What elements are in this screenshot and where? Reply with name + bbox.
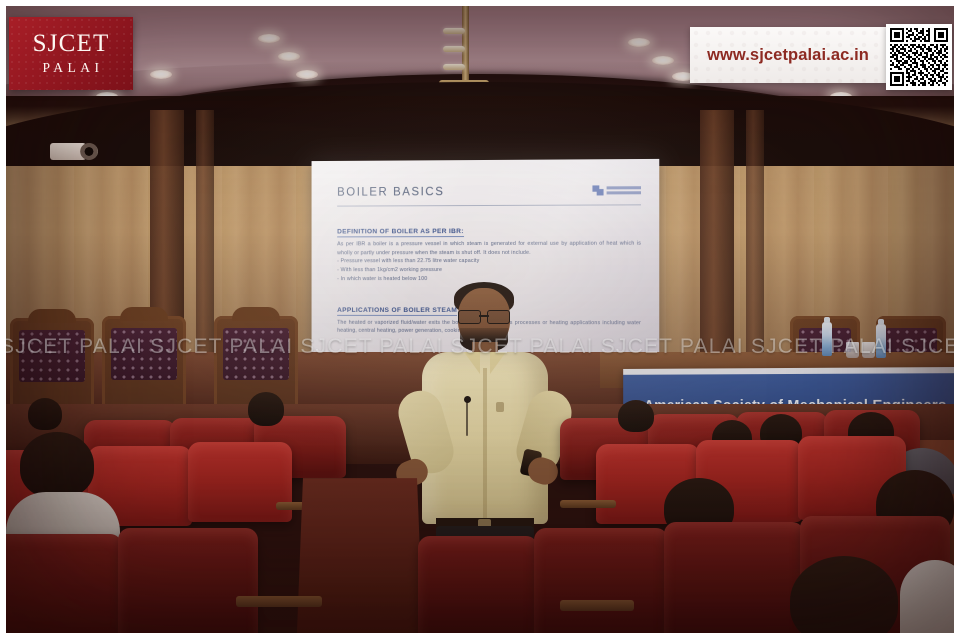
chair-crest <box>28 309 76 323</box>
shirt-placket <box>483 368 487 518</box>
audience-head <box>790 556 898 639</box>
ceiling-spotlight <box>258 34 280 43</box>
audience-shoulders <box>900 560 960 639</box>
shirt-collar-left <box>464 352 480 374</box>
seat-armrest <box>560 500 616 508</box>
ceiling-spotlight <box>652 56 674 65</box>
auditorium-seat <box>534 528 668 639</box>
audience-head <box>618 400 654 432</box>
seat-armrest <box>560 600 634 611</box>
projector-pole <box>462 4 469 82</box>
audience-head <box>20 432 94 498</box>
microphone-wire <box>466 402 468 436</box>
audience-head <box>248 392 284 426</box>
slide-bullet: - Pressure vessel with less than 22.75 l… <box>337 257 641 266</box>
qr-code[interactable] <box>886 24 952 90</box>
shirt-collar-right <box>490 352 506 374</box>
slide-divider <box>337 204 641 206</box>
chair-crest <box>232 307 280 321</box>
presenter-company-logo <box>592 185 641 195</box>
institution-logo-line2: PALAI <box>38 60 103 76</box>
website-url-text: www.sjcetpalai.ac.in <box>707 46 869 65</box>
wall-cctv-camera <box>50 143 86 160</box>
drinking-glass <box>846 342 859 358</box>
lapel-microphone <box>464 396 471 403</box>
drinking-glass <box>862 342 875 358</box>
auditorium-seat <box>664 522 804 639</box>
seat-armrest <box>236 596 322 607</box>
chair-upholstery <box>19 330 85 382</box>
auditorium-seat <box>118 528 258 639</box>
presenter-glasses <box>458 310 510 322</box>
website-badge[interactable]: www.sjcetpalai.ac.in <box>690 27 886 83</box>
auditorium-seat <box>188 442 292 522</box>
dais-chair <box>102 316 186 412</box>
chair-crest <box>120 307 168 321</box>
ceiling-spotlight <box>150 70 172 79</box>
shirt-pocket-logo <box>496 402 504 412</box>
slide-section-heading: DEFINITION OF BOILER AS PER IBR: <box>337 228 464 237</box>
glasses-lens-left <box>458 310 481 324</box>
ceiling-spotlight <box>296 70 318 79</box>
wall-pillar <box>746 110 764 390</box>
center-aisle <box>297 478 424 639</box>
company-wordmark <box>607 186 641 194</box>
wall-pillar <box>196 110 214 390</box>
ceiling-spotlight <box>278 52 300 61</box>
auditorium-photo: BOILER BASICS DEFINITION OF BOILER AS PE… <box>0 0 960 639</box>
projector-arm <box>443 28 465 34</box>
projector-arm <box>443 64 465 70</box>
qr-code-icon <box>890 28 948 86</box>
company-mark-icon <box>592 185 603 195</box>
institution-logo: SJCET PALAI <box>9 17 133 90</box>
chair-upholstery <box>223 328 289 380</box>
auditorium-seat <box>0 534 122 639</box>
wall-pillar <box>700 110 734 390</box>
water-bottle <box>876 324 886 358</box>
auditorium-seat <box>418 536 538 639</box>
glasses-lens-right <box>487 310 510 324</box>
ceiling-spotlight <box>628 38 650 47</box>
slide-section-body: As per IBR a boiler is a pressure vessel… <box>337 240 641 258</box>
chair-upholstery <box>111 328 177 380</box>
projector-arm <box>443 46 465 52</box>
institution-logo-line1: SJCET <box>33 31 110 56</box>
audience-head <box>28 398 62 430</box>
water-bottle <box>822 322 832 356</box>
slide-bullet: - With less than 1kg/cm2 working pressur… <box>337 266 641 275</box>
